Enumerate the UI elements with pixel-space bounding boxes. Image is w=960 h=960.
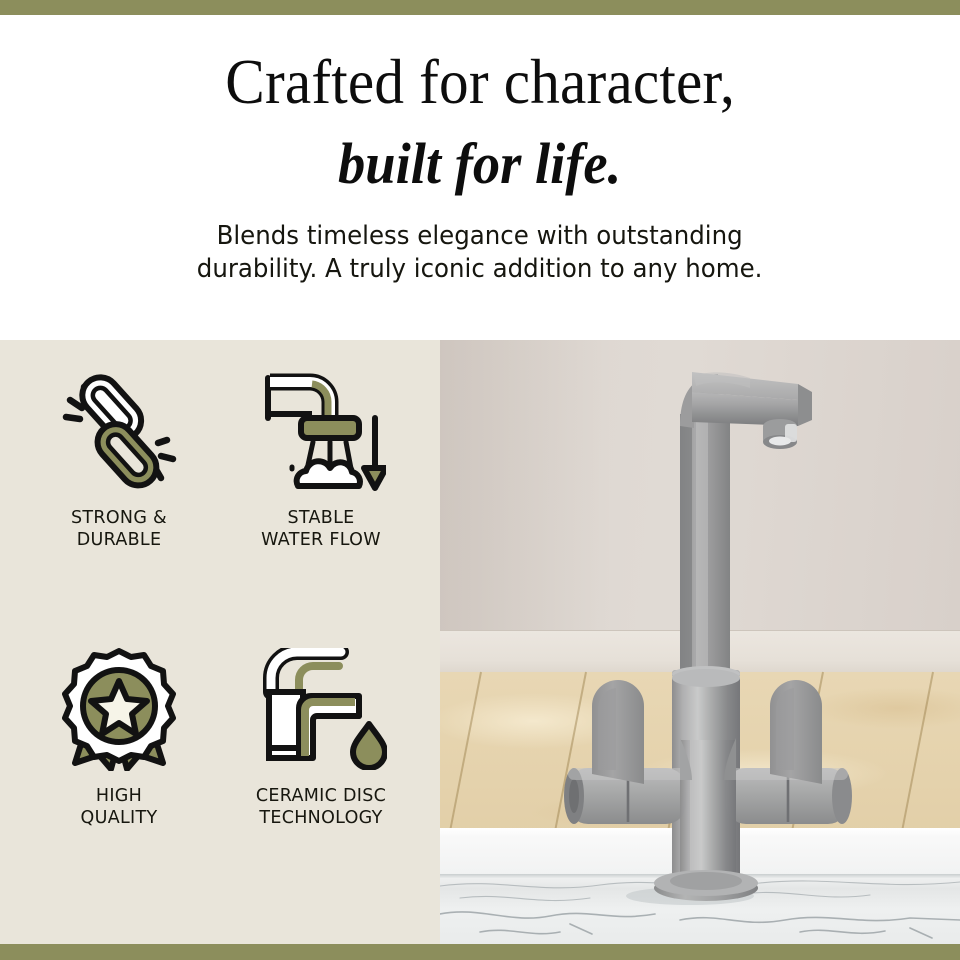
feature-label-ceramic-disc: CERAMIC DISC TECHNOLOGY — [256, 786, 386, 829]
subcopy-line-2: durability. A truly iconic addition to a… — [197, 253, 763, 286]
mixer-tap-drop-icon — [255, 644, 387, 774]
faucet-assembly — [440, 340, 960, 944]
feature-label-line-2: WATER FLOW — [261, 530, 381, 552]
feature-label-line-2: QUALITY — [81, 808, 158, 830]
product-feature-poster: Crafted for character, built for life. B… — [0, 0, 960, 960]
feature-item-high-quality: HIGH QUALITY — [18, 644, 220, 922]
top-accent-bar — [0, 0, 960, 15]
feature-item-stable-water-flow: STABLE WATER FLOW — [220, 366, 422, 644]
feature-label-line-1: STRONG & — [71, 508, 167, 530]
feature-label-stable-water-flow: STABLE WATER FLOW — [261, 508, 381, 551]
faucet-water-flow-icon — [256, 366, 386, 496]
quality-badge-icon — [55, 644, 183, 774]
feature-label-strong-durable: STRONG & DURABLE — [71, 508, 167, 551]
feature-item-strong-durable: STRONG & DURABLE — [18, 366, 220, 644]
subcopy-line-1: Blends timeless elegance with outstandin… — [197, 220, 763, 253]
feature-label-line-1: HIGH — [81, 786, 158, 808]
feature-label-line-1: CERAMIC DISC — [256, 786, 386, 808]
feature-label-high-quality: HIGH QUALITY — [81, 786, 158, 829]
chain-link-icon — [55, 366, 183, 496]
feature-item-ceramic-disc: CERAMIC DISC TECHNOLOGY — [220, 644, 422, 922]
feature-label-line-2: DURABLE — [71, 530, 167, 552]
feature-label-line-1: STABLE — [261, 508, 381, 530]
body-section: STRONG & DURABLE — [0, 340, 960, 944]
subcopy: Blends timeless elegance with outstandin… — [197, 220, 763, 286]
headline-line-1: Crafted for character, — [225, 51, 735, 114]
product-photo — [440, 340, 960, 944]
feature-grid: STRONG & DURABLE — [0, 340, 440, 944]
header-section: Crafted for character, built for life. B… — [0, 15, 960, 340]
feature-label-line-2: TECHNOLOGY — [256, 808, 386, 830]
headline-line-2: built for life. — [338, 135, 621, 193]
bottom-accent-bar — [0, 944, 960, 960]
